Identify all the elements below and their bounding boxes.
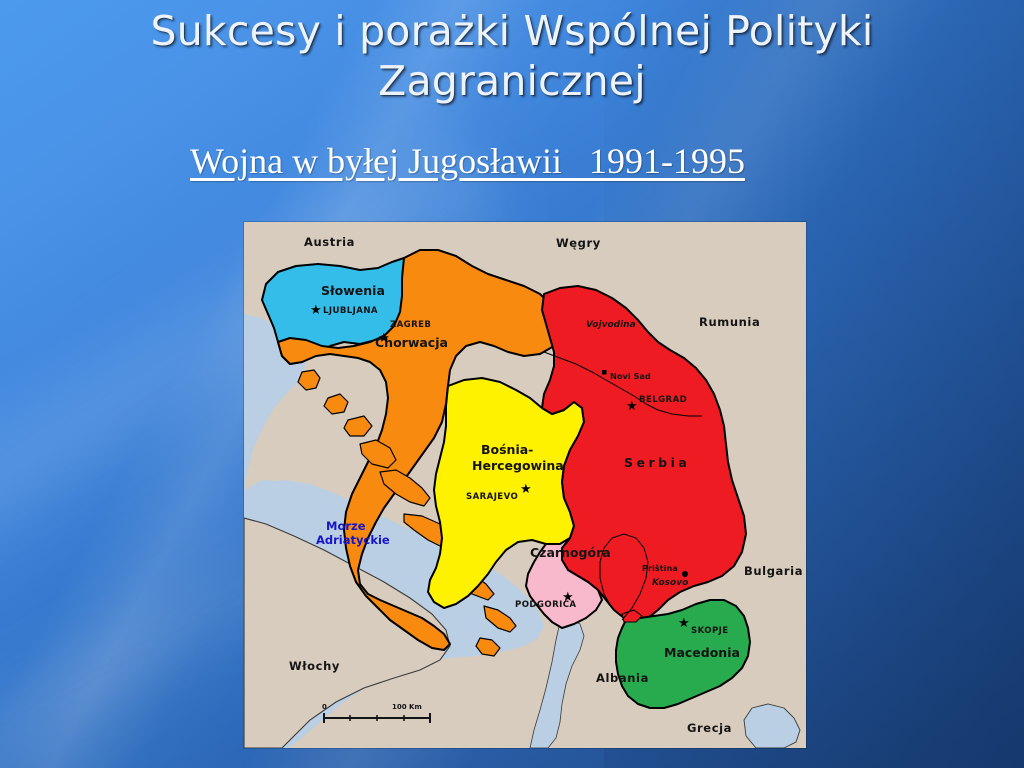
map-label-albania: Albania (596, 671, 649, 685)
map-label-wlochy: Włochy (289, 659, 340, 673)
map-label-vojvodina: Vojvodina (586, 320, 636, 330)
map-label-pristina: Priština (642, 563, 678, 573)
balkans-map-image: Austria Węgry Rumunia Bulgaria Albania G… (244, 222, 806, 748)
map-label-czarnogora: Czarnogóra (530, 545, 611, 560)
scale-label-min: 0 (322, 703, 327, 711)
capital-star-ljubljana: ★ (310, 302, 322, 317)
capital-star-belgrad: ★ (626, 398, 638, 413)
map-label-serbia: Serbia (624, 455, 690, 470)
map-label-austria: Austria (304, 235, 355, 249)
map-label-novi-sad: Novi Sad (610, 371, 651, 381)
map-label-bulgaria: Bulgaria (744, 564, 803, 578)
map-label-morze-line2: Adriatyckie (316, 533, 390, 547)
slide-title: Sukcesy i porażki Wspólnej Polityki Zagr… (72, 6, 952, 106)
map-label-skopje: SKOPJE (691, 626, 729, 636)
map-label-kosovo: Kosovo (652, 578, 688, 588)
capital-star-skopje: ★ (678, 615, 690, 630)
map-label-rumunia: Rumunia (699, 315, 760, 329)
capital-star-sarajevo: ★ (520, 481, 532, 496)
map-label-slowenia: Słowenia (321, 283, 385, 298)
scale-label-max: 100 Km (392, 703, 422, 711)
map-label-ljubljana: LJUBLJANA (323, 306, 378, 316)
map-label-sarajevo: SARAJEVO (466, 492, 518, 502)
balkans-map-svg: Austria Węgry Rumunia Bulgaria Albania G… (244, 222, 806, 748)
presentation-slide: Sukcesy i porażki Wspólnej Polityki Zagr… (0, 0, 1024, 768)
capital-star-zagreb: ★ (378, 330, 390, 345)
map-label-morze-line1: Morze (326, 519, 366, 533)
slide-subtitle: Wojna w byłej Jugosławii 1991-1995 (190, 140, 745, 182)
map-label-belgrad: BELGRAD (639, 395, 687, 405)
city-marker-novi-sad (602, 370, 607, 375)
map-label-zagreb: ZAGREB (390, 320, 431, 330)
map-label-grecja: Grecja (687, 721, 732, 735)
map-label-podgorica: PODGORICA (515, 600, 576, 610)
map-label-wegry: Węgry (556, 236, 601, 250)
map-label-bosnia-line2: Hercegowina (472, 458, 564, 473)
map-label-macedonia: Macedonia (664, 645, 740, 660)
city-marker-pristina (682, 571, 688, 577)
map-label-bosnia-line1: Bośnia- (481, 442, 533, 457)
